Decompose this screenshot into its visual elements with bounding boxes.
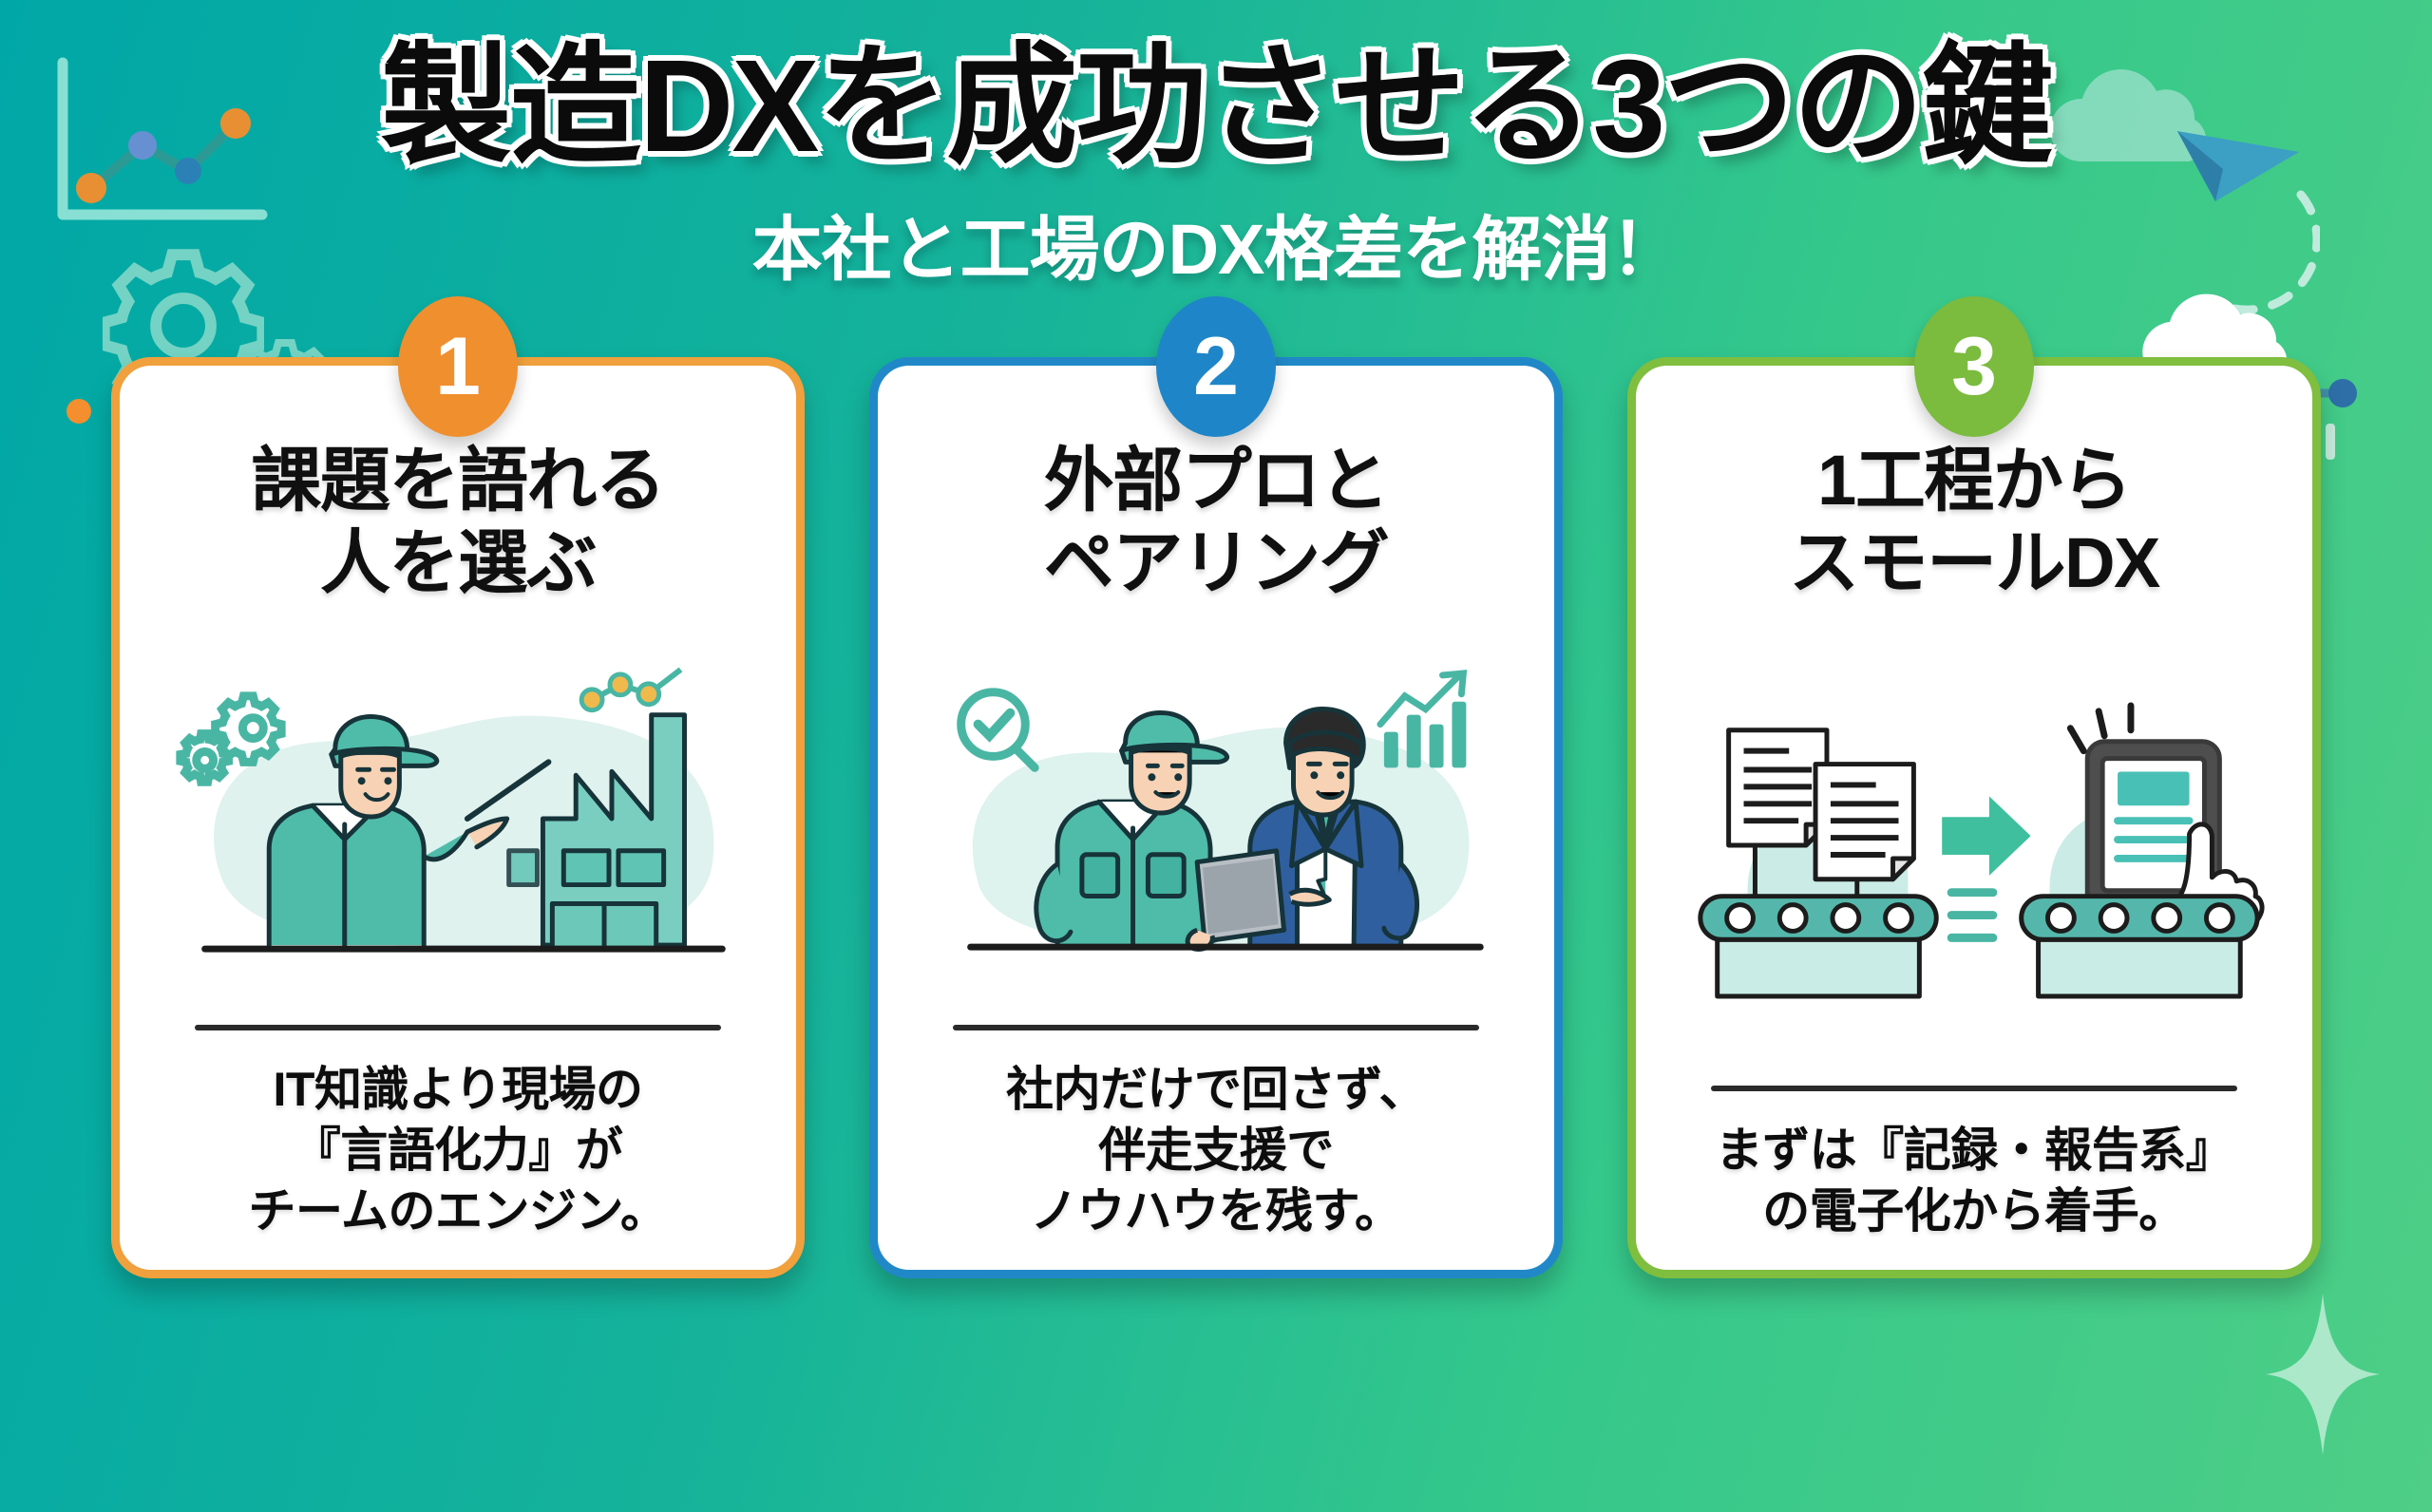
card-caption: 社内だけで回さず、 伴走支援で ノウハウを残す。 xyxy=(1006,1059,1426,1241)
card-caption: まずは『記録・報告系』 の電子化から着手。 xyxy=(1716,1120,2233,1241)
infographic-poster: 製造DXを成功させる3つの鍵 本社と工場のDX格差を解消！ 1 課題を語れる 人… xyxy=(0,0,2432,1512)
card-number-badge: 2 xyxy=(1156,296,1276,437)
key-point-card-2[interactable]: 2 外部プロと ペアリング xyxy=(869,357,1563,1278)
card-illustration xyxy=(152,604,764,1021)
worker-pointing-at-factory-illustration xyxy=(156,661,760,974)
card-illustration xyxy=(1668,604,2280,1082)
card-divider xyxy=(195,1025,721,1030)
page-title: 製造DXを成功させる3つの鍵 xyxy=(0,36,2432,178)
key-point-card-3[interactable]: 3 1工程から スモールDX xyxy=(1627,357,2321,1278)
card-caption: IT知識より現場の 『言語化力』が チームのエンジン。 xyxy=(249,1059,668,1241)
card-divider xyxy=(1711,1086,2237,1091)
sparkle-icon xyxy=(2266,1294,2380,1455)
card-divider xyxy=(953,1025,1479,1030)
card-title: 課題を語れる 人を選ぶ xyxy=(252,440,665,604)
card-title: 1工程から スモールDX xyxy=(1789,440,2159,604)
worker-and-consultant-illustration xyxy=(914,661,1518,974)
card-number-badge: 3 xyxy=(1914,296,2034,437)
poster-header: 製造DXを成功させる3つの鍵 本社と工場のDX格差を解消！ xyxy=(0,0,2432,294)
card-number-badge: 1 xyxy=(398,296,518,437)
key-point-card-1[interactable]: 1 課題を語れる 人を選ぶ xyxy=(111,357,805,1278)
card-title: 外部プロと ペアリング xyxy=(1044,440,1389,604)
card-illustration xyxy=(910,604,1522,1021)
key-points-list: 1 課題を語れる 人を選ぶ xyxy=(0,357,2432,1278)
page-subtitle: 本社と工場のDX格差を解消！ xyxy=(0,193,2432,294)
paper-to-tablet-conveyor-illustration xyxy=(1672,691,2276,1005)
